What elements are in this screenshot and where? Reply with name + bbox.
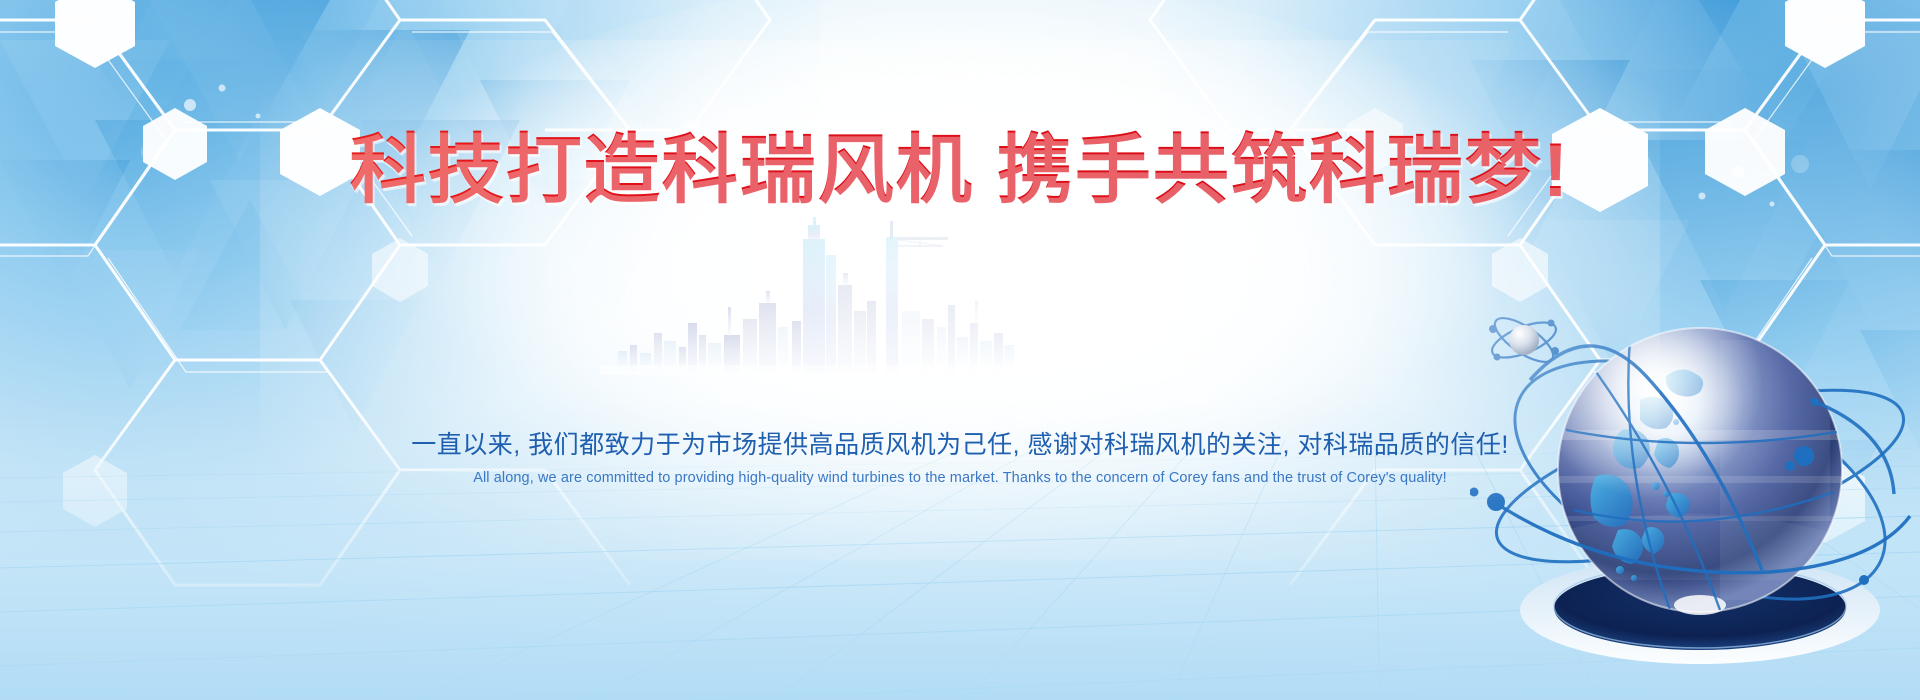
banner-headline: 科技打造科瑞风机 携手共筑科瑞梦! (0, 128, 1920, 213)
promo-banner: 科技打造科瑞风机 携手共筑科瑞梦! 科技打造科瑞风机 携手共筑科瑞梦! 一直以来… (0, 0, 1920, 700)
banner-subtitle-chinese: 一直以来, 我们都致力于为市场提供高品质风机为己任, 感谢对科瑞风机的关注, 对… (0, 425, 1920, 461)
banner-subtitle-english: All along, we are committed to providing… (0, 470, 1920, 486)
